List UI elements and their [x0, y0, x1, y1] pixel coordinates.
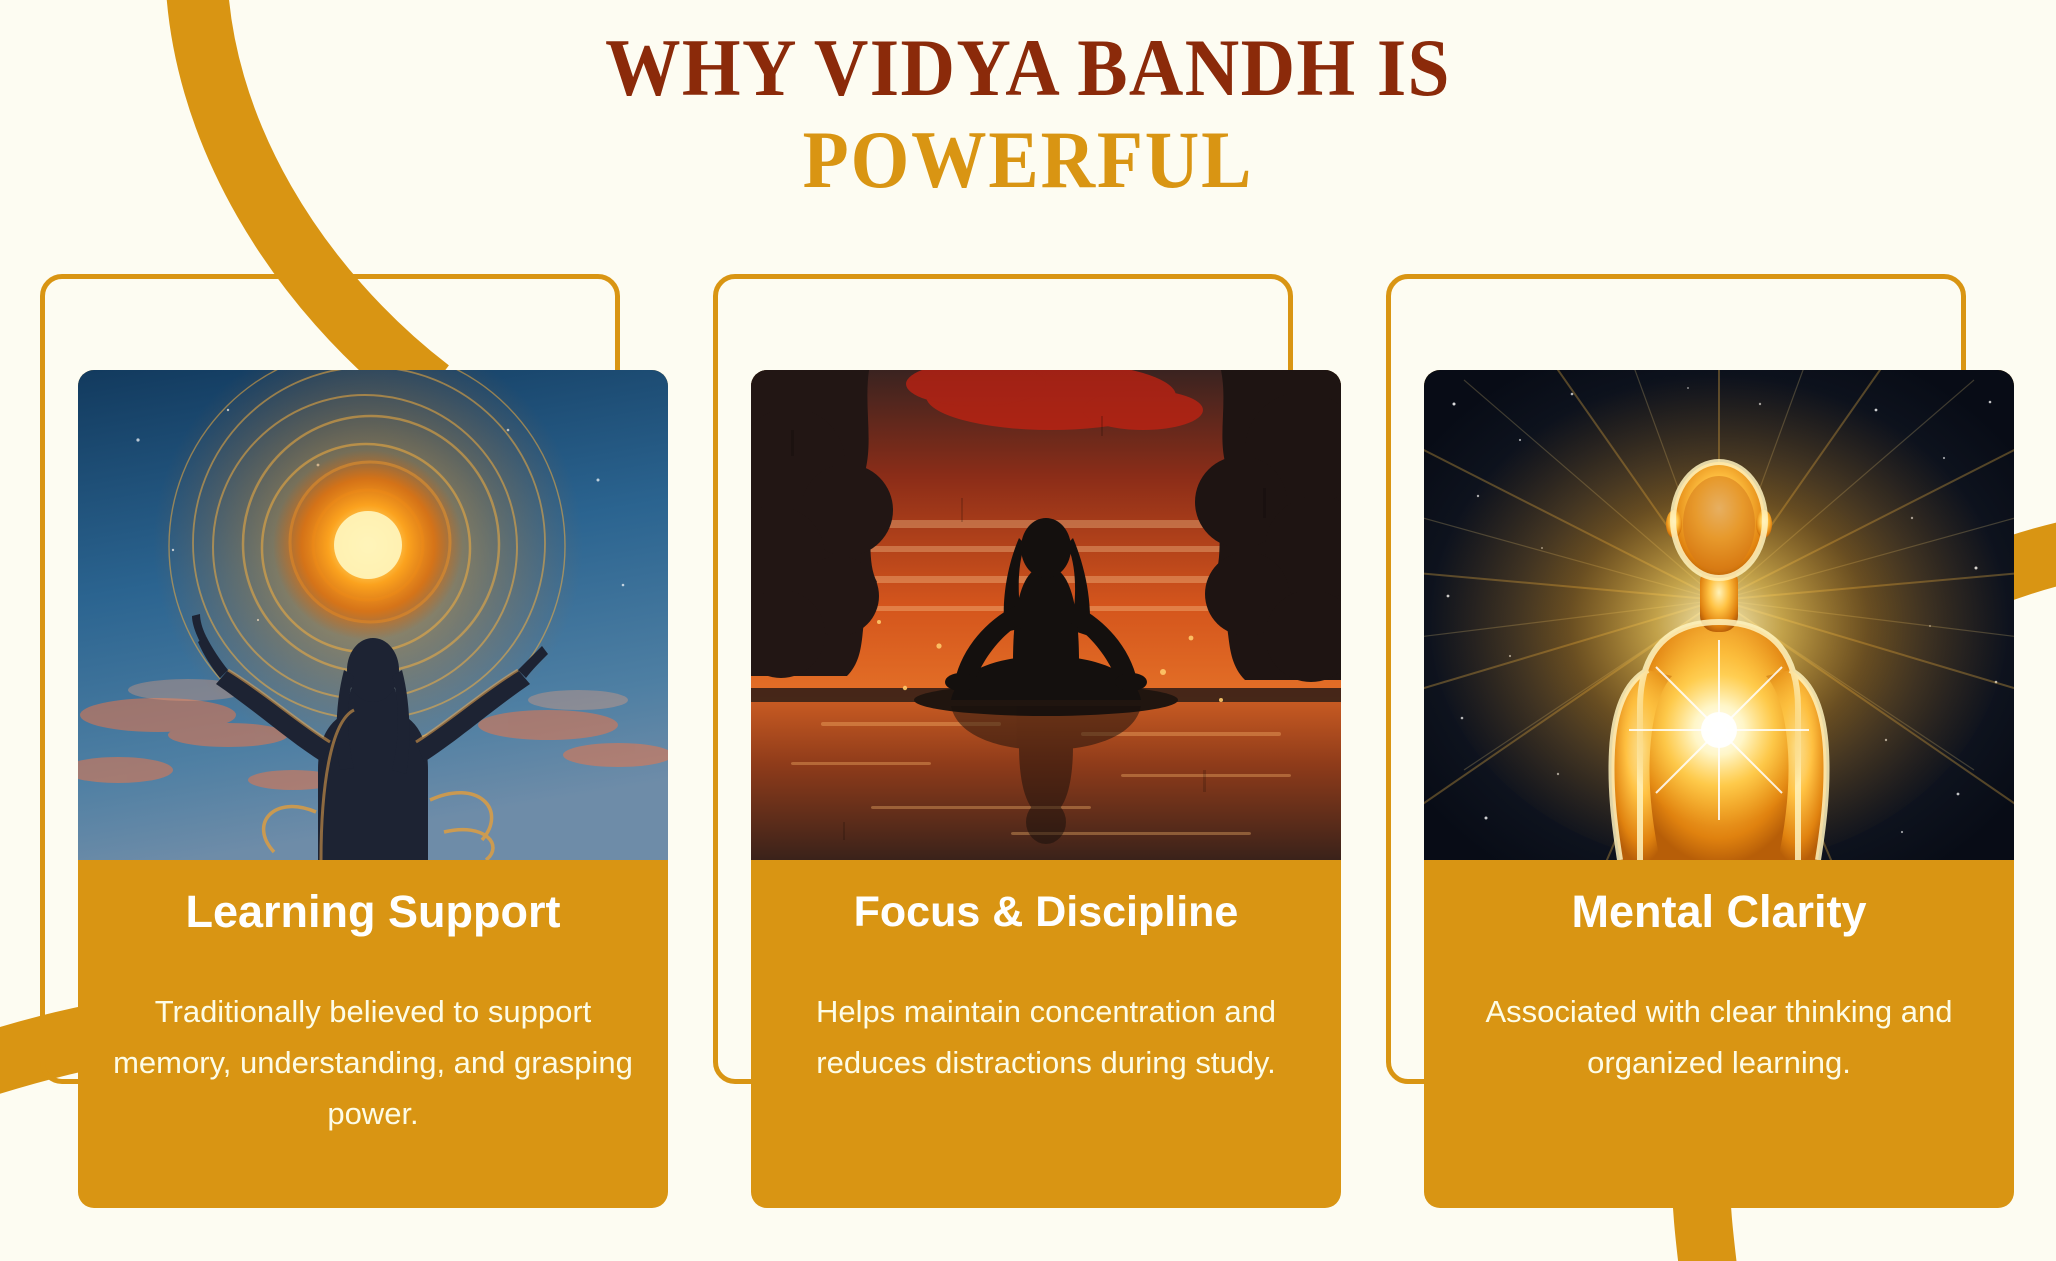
page-title-line-1: WHY VIDYA BANDH IS — [82, 22, 1974, 114]
card-surface[interactable]: Learning Support Traditionally believed … — [78, 370, 668, 1208]
card-image-silhouette-meditating-lakeside-sunset — [751, 370, 1341, 860]
card-title: Focus & Discipline — [785, 884, 1307, 940]
card-title: Learning Support — [112, 884, 634, 940]
card-description: Helps maintain concentration and reduces… — [785, 986, 1307, 1088]
card-image-silhouette-arms-raised-sunburst — [78, 370, 668, 860]
card-description: Traditionally believed to support memory… — [112, 986, 634, 1139]
card-surface[interactable]: Mental Clarity Associated with clear thi… — [1424, 370, 2014, 1208]
card-description: Associated with clear thinking and organ… — [1458, 986, 1980, 1088]
page-title-line-2: POWERFUL — [82, 114, 1974, 206]
card-title: Mental Clarity — [1458, 884, 1980, 940]
page-title: WHY VIDYA BANDH IS POWERFUL — [0, 22, 2056, 206]
card-text-block: Learning Support Traditionally believed … — [78, 860, 668, 1169]
card-text-block: Mental Clarity Associated with clear thi… — [1424, 860, 2014, 1118]
card-learning-support[interactable]: Learning Support Traditionally believed … — [78, 370, 668, 1208]
card-text-block: Focus & Discipline Helps maintain concen… — [751, 860, 1341, 1118]
card-mental-clarity[interactable]: Mental Clarity Associated with clear thi… — [1424, 370, 2014, 1208]
card-image-glowing-aura-human-figure-starfield — [1424, 370, 2014, 860]
card-focus-discipline[interactable]: Focus & Discipline Helps maintain concen… — [751, 370, 1341, 1208]
card-surface[interactable]: Focus & Discipline Helps maintain concen… — [751, 370, 1341, 1208]
